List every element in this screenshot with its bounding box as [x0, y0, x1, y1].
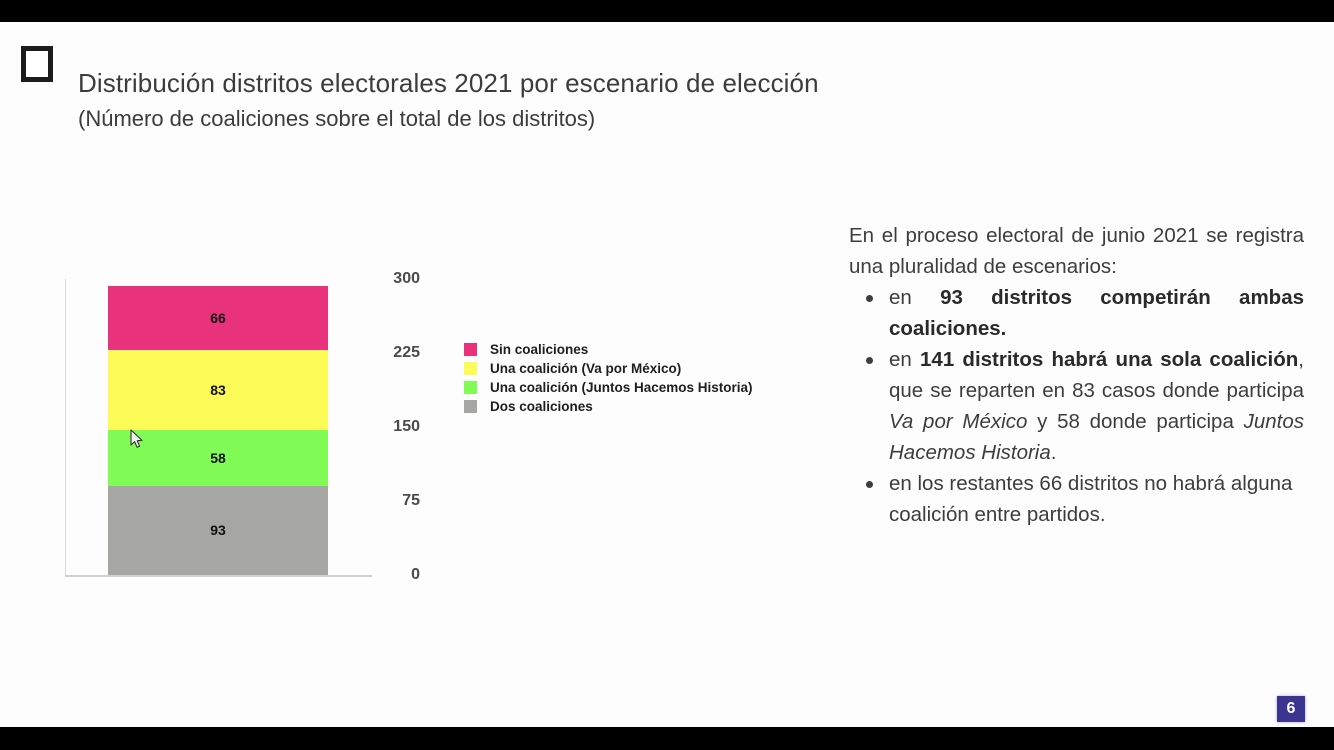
letterbox-bottom	[0, 727, 1334, 750]
bar-value-label: 83	[210, 382, 226, 398]
slide-canvas: Distribución distritos electorales 2021 …	[0, 22, 1334, 727]
bar-value-label: 66	[210, 310, 226, 326]
narrative-panel: En el proceso electoral de junio 2021 se…	[849, 220, 1304, 530]
chart-legend: Sin coaliciones Una coalición (Va por Mé…	[464, 340, 753, 416]
narrative-intro: En el proceso electoral de junio 2021 se…	[849, 220, 1304, 282]
legend-item-label: Una coalición (Juntos Hacemos Historia)	[490, 380, 753, 395]
legend-item-label: Una coalición (Va por México)	[490, 361, 681, 376]
y-axis-tick-75: 75	[374, 492, 420, 510]
legend-swatch-icon	[464, 343, 477, 356]
x-axis-line	[65, 575, 372, 577]
y-axis-tick-225: 225	[374, 344, 420, 362]
bar-value-label: 58	[210, 450, 226, 466]
page-subtitle: (Número de coaliciones sobre el total de…	[78, 106, 595, 132]
narrative-bullet-141-distritos: en 141 distritos habrá una sola coalició…	[889, 344, 1304, 468]
y-axis-tick-300: 300	[374, 270, 420, 288]
mouse-cursor-icon	[130, 429, 144, 449]
legend-item-dos-coaliciones[interactable]: Dos coaliciones	[464, 397, 753, 416]
legend-swatch-icon	[464, 400, 477, 413]
bar-segment-va-por-mexico[interactable]: 83	[108, 350, 328, 430]
legend-swatch-icon	[464, 362, 477, 375]
stacked-bar-chart: 300 225 150 75 0 66 83 58 93	[0, 244, 420, 574]
legend-swatch-icon	[464, 381, 477, 394]
y-axis-line	[65, 279, 66, 576]
slide-viewport: Distribución distritos electorales 2021 …	[0, 0, 1334, 750]
narrative-bullet-list: en 93 distritos competirán ambas coalici…	[849, 282, 1304, 530]
letterbox-top	[0, 0, 1334, 22]
legend-item-va-por-mexico[interactable]: Una coalición (Va por México)	[464, 359, 753, 378]
bar-segment-sin-coaliciones[interactable]: 66	[108, 286, 328, 350]
bar-segment-dos-coaliciones[interactable]: 93	[108, 486, 328, 575]
legend-item-label: Sin coaliciones	[490, 342, 588, 357]
legend-item-sin-coaliciones[interactable]: Sin coaliciones	[464, 340, 753, 359]
legend-item-juntos-hacemos-historia[interactable]: Una coalición (Juntos Hacemos Historia)	[464, 378, 753, 397]
narrative-bullet-93-distritos: en 93 distritos competirán ambas coalici…	[889, 282, 1304, 344]
legend-item-label: Dos coaliciones	[490, 399, 593, 414]
y-axis-tick-0: 0	[374, 566, 420, 584]
y-axis-tick-150: 150	[374, 418, 420, 436]
bar-value-label: 93	[210, 522, 226, 538]
narrative-bullet-66-distritos: en los restantes 66 distritos no habrá a…	[889, 468, 1304, 530]
page-number-badge: 6	[1277, 696, 1305, 722]
empty-square-icon	[21, 46, 53, 82]
page-title: Distribución distritos electorales 2021 …	[78, 68, 819, 99]
